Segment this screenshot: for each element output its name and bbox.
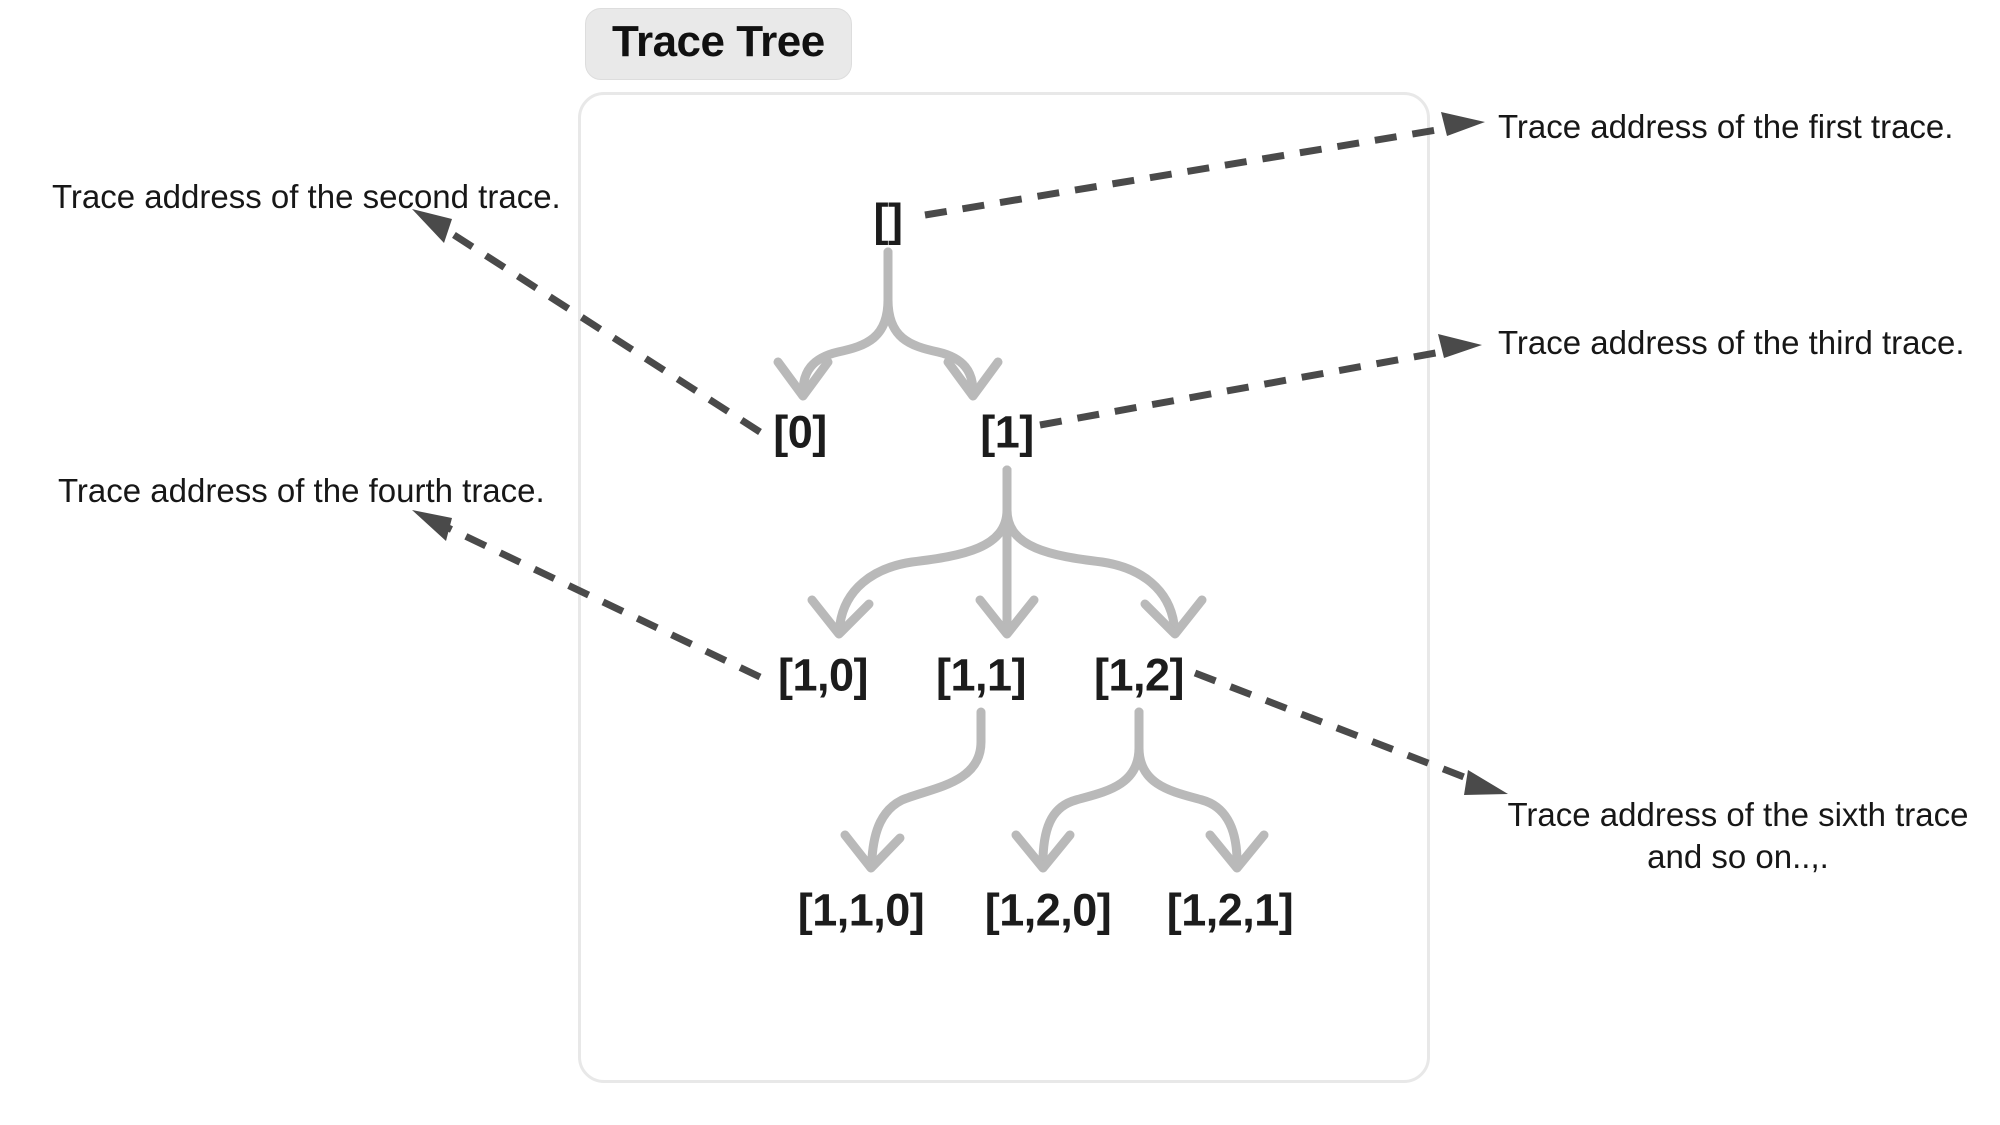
callout-sixth-line-1: Trace address of the sixth trace bbox=[1508, 796, 1969, 833]
callout-sixth-line-2: and so on..,. bbox=[1647, 838, 1829, 875]
tree-node-1: [1] bbox=[980, 410, 1034, 455]
tree-node-0: [0] bbox=[773, 410, 827, 455]
callout-first-trace: Trace address of the first trace. bbox=[1498, 106, 1953, 148]
callout-second-trace: Trace address of the second trace. bbox=[52, 176, 561, 218]
callout-third-trace: Trace address of the third trace. bbox=[1498, 322, 1965, 364]
callout-fourth-trace: Trace address of the fourth trace. bbox=[58, 470, 545, 512]
tree-node-1-2-1: [1,2,1] bbox=[1167, 888, 1294, 933]
tree-node-1-0: [1,0] bbox=[778, 653, 868, 698]
tree-node-1-2: [1,2] bbox=[1094, 653, 1184, 698]
page-title: Trace Tree bbox=[585, 8, 852, 80]
tree-node-root: [] bbox=[874, 198, 903, 243]
diagram-canvas: Trace Tree .edge { fill: none; stroke: #… bbox=[0, 0, 2000, 1125]
tree-node-1-1: [1,1] bbox=[936, 653, 1026, 698]
tree-node-1-1-0: [1,1,0] bbox=[798, 888, 925, 933]
callout-sixth-trace: Trace address of the sixth trace and so … bbox=[1498, 794, 1978, 878]
tree-node-1-2-0: [1,2,0] bbox=[985, 888, 1112, 933]
